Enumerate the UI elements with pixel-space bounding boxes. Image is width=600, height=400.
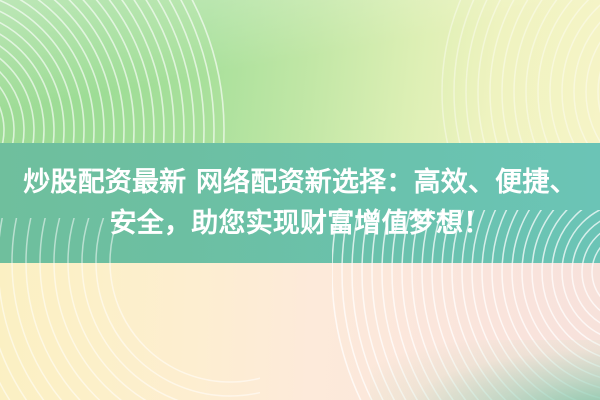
bottom-gradient-zone [0, 263, 600, 400]
headline-band: 炒股配资最新 网络配资新选择：高效、便捷、安全，助您实现财富增值梦想！ [0, 143, 600, 263]
banner-headline: 炒股配资最新 网络配资新选择：高效、便捷、安全，助您实现财富增值梦想！ [17, 162, 583, 244]
promo-banner: 炒股配资最新 网络配资新选择：高效、便捷、安全，助您实现财富增值梦想！ [0, 0, 600, 400]
top-gradient-zone [0, 0, 600, 143]
